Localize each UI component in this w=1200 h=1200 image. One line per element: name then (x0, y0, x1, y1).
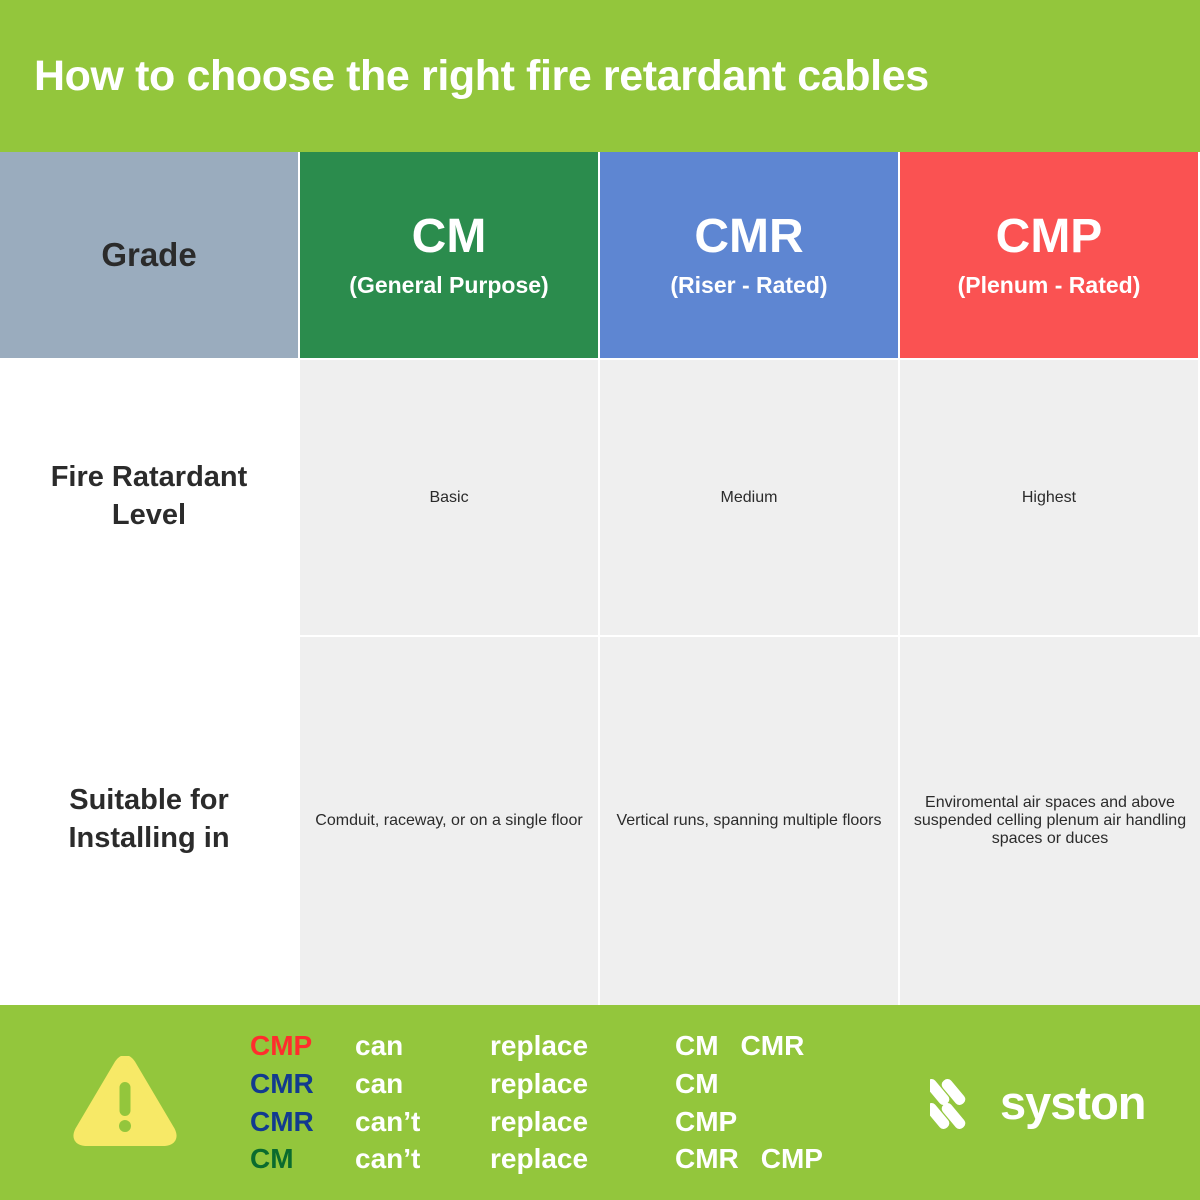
fire-level-cmp-value: Highest (1022, 489, 1076, 507)
cmr-subtitle: (Riser - Rated) (670, 272, 827, 298)
rule-modal: can’t (355, 1141, 490, 1177)
table-header-grade-label: Grade (0, 152, 300, 358)
suitable-cmr-value: Vertical runs, spanning multiple floors (616, 812, 881, 830)
rule-targets: CMRCMP (675, 1141, 930, 1177)
rule-subject: CMR (250, 1104, 355, 1140)
header-banner: How to choose the right fire retardant c… (0, 0, 1200, 152)
rule-subject: CM (250, 1141, 355, 1177)
rule-target: CM (675, 1030, 719, 1061)
rule-row: CMR can’t replace CMP (250, 1104, 930, 1140)
cm-code: CM (412, 212, 487, 262)
cmr-code: CMR (694, 212, 803, 262)
brand-name: syston (1000, 1075, 1146, 1130)
rule-subject: CMR (250, 1066, 355, 1102)
comparison-table: Grade CM (General Purpose) CMR (Riser - … (0, 152, 1200, 1005)
cell-suitable-cmp: Enviromental air spaces and above suspen… (900, 635, 1200, 1005)
cell-suitable-cmr: Vertical runs, spanning multiple floors (600, 635, 900, 1005)
rule-verb: replace (490, 1104, 675, 1140)
rule-verb: replace (490, 1141, 675, 1177)
fire-level-cmr-value: Medium (721, 489, 778, 507)
rule-verb: replace (490, 1066, 675, 1102)
warning-icon-wrap (0, 1056, 250, 1150)
brand-logo: syston (930, 1074, 1200, 1132)
rule-targets: CMCMR (675, 1028, 930, 1064)
rule-targets: CM (675, 1066, 930, 1102)
cmp-code: CMP (996, 212, 1103, 262)
table-row-label-fire-level: Fire Ratardant Level (0, 358, 300, 635)
cell-fire-level-cmp: Highest (900, 358, 1200, 635)
footer-banner: CMP can replace CMCMR CMR can replace CM… (0, 1005, 1200, 1200)
rule-row: CMP can replace CMCMR (250, 1028, 930, 1064)
syston-stripes-icon (930, 1074, 988, 1132)
rule-modal: can (355, 1028, 490, 1064)
infographic-page: How to choose the right fire retardant c… (0, 0, 1200, 1200)
cell-fire-level-cm: Basic (300, 358, 600, 635)
fire-level-cm-value: Basic (429, 489, 468, 507)
rule-targets: CMP (675, 1104, 930, 1140)
rule-target: CM (675, 1068, 719, 1099)
replacement-rules-list: CMP can replace CMCMR CMR can replace CM… (250, 1028, 930, 1177)
page-title: How to choose the right fire retardant c… (0, 52, 929, 101)
suitable-for-label-text: Suitable for Installing in (14, 782, 284, 857)
cmp-subtitle: (Plenum - Rated) (958, 272, 1141, 298)
fire-level-label-text: Fire Ratardant Level (14, 459, 284, 534)
table-header-cmr: CMR (Riser - Rated) (600, 152, 900, 358)
rule-target: CMP (675, 1106, 737, 1137)
cm-subtitle: (General Purpose) (349, 272, 548, 298)
cell-suitable-cm: Comduit, raceway, or on a single floor (300, 635, 600, 1005)
table-row-label-suitable-for: Suitable for Installing in (0, 635, 300, 1005)
suitable-cm-value: Comduit, raceway, or on a single floor (315, 812, 582, 830)
suitable-cmp-value: Enviromental air spaces and above suspen… (908, 794, 1192, 848)
rule-target: CMR (741, 1030, 805, 1061)
rule-modal: can’t (355, 1104, 490, 1140)
cell-fire-level-cmr: Medium (600, 358, 900, 635)
warning-triangle-icon (73, 1056, 177, 1150)
table-header-cmp: CMP (Plenum - Rated) (900, 152, 1200, 358)
table-header-cm: CM (General Purpose) (300, 152, 600, 358)
grade-label-text: Grade (101, 236, 196, 274)
rule-row: CM can’t replace CMRCMP (250, 1141, 930, 1177)
rule-target: CMR (675, 1143, 739, 1174)
rule-verb: replace (490, 1028, 675, 1064)
rule-subject: CMP (250, 1028, 355, 1064)
rule-target: CMP (761, 1143, 823, 1174)
rule-row: CMR can replace CM (250, 1066, 930, 1102)
rule-modal: can (355, 1066, 490, 1102)
